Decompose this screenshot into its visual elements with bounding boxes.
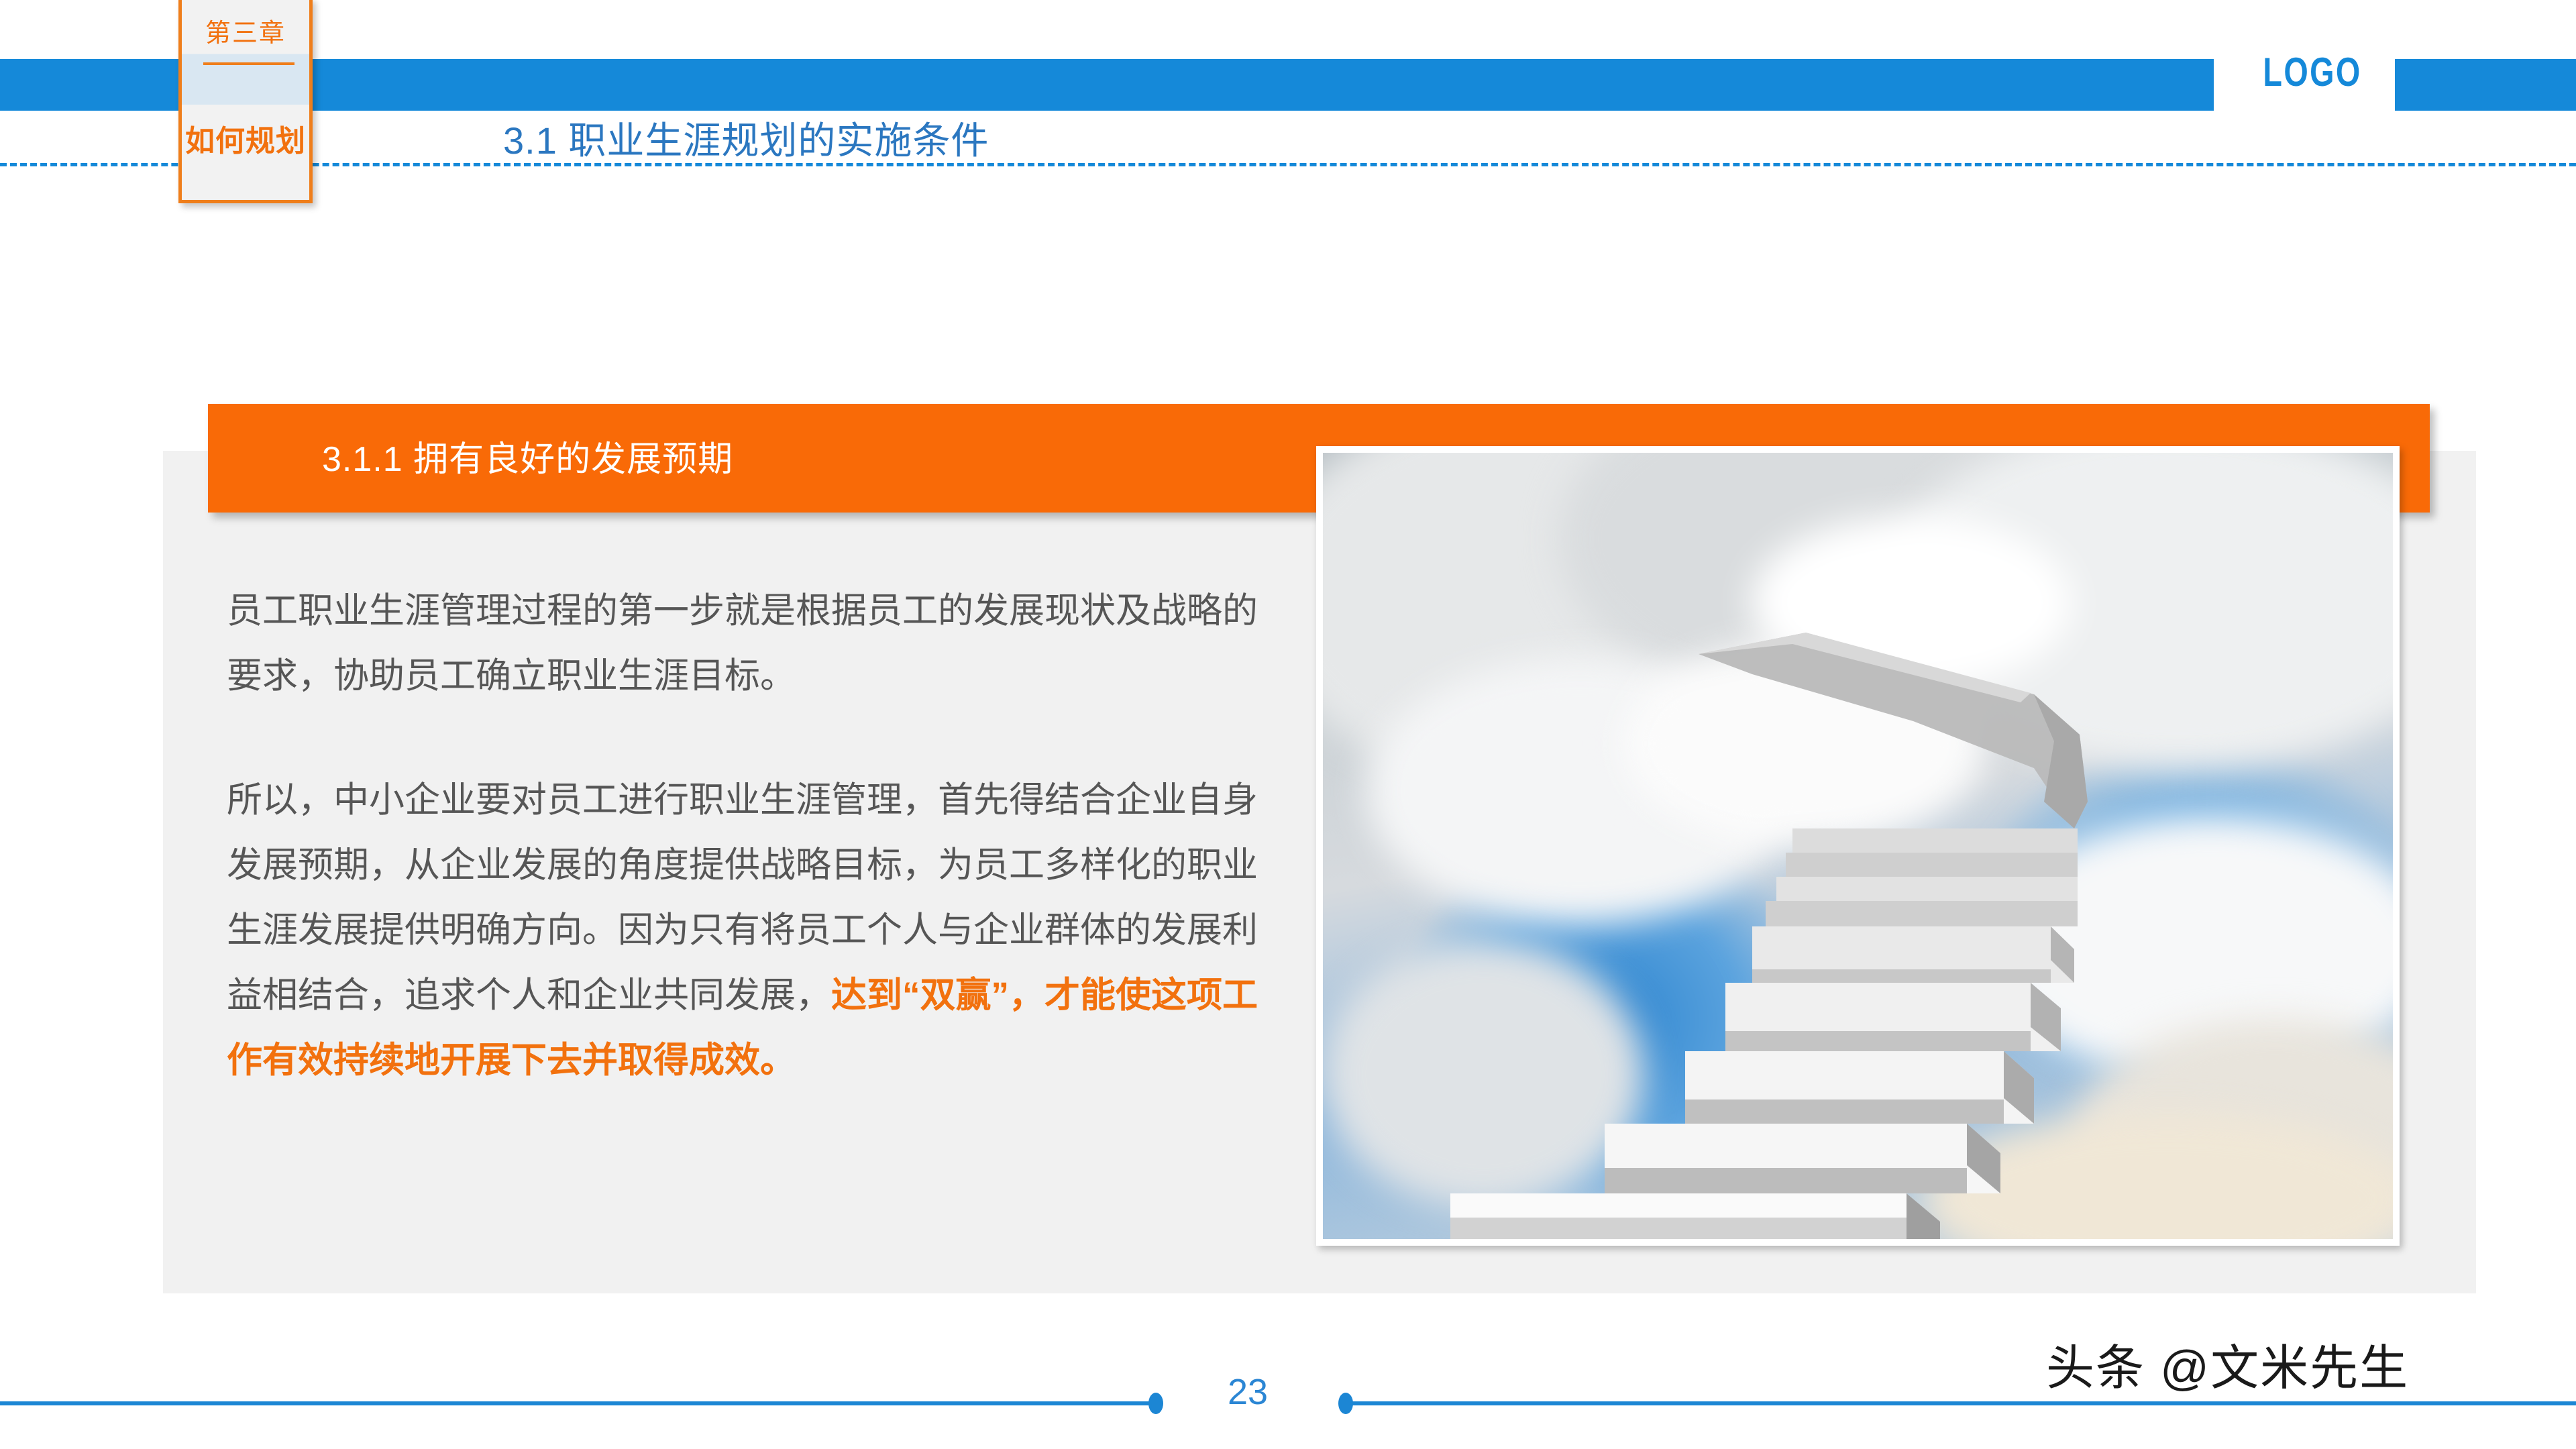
illustration-frame bbox=[1316, 446, 2400, 1246]
footer-dot-left bbox=[1148, 1393, 1163, 1414]
logo-text: LOGO bbox=[2247, 52, 2378, 93]
header-blue-bar-right bbox=[2395, 59, 2576, 111]
page-number: 23 bbox=[1181, 1371, 1315, 1413]
page-title: 3.1 职业生涯规划的实施条件 bbox=[503, 111, 989, 165]
header-blue-bar-left bbox=[0, 59, 2214, 111]
header-dashed-divider bbox=[0, 163, 2576, 166]
stairway-to-clouds-image bbox=[1323, 453, 2393, 1239]
footer-line-left bbox=[0, 1401, 1154, 1405]
chapter-name-label: 如何规划 bbox=[182, 117, 309, 160]
paragraph-1: 员工职业生涯管理过程的第一步就是根据员工的发展现状及战略的要求，协助员工确立职业… bbox=[227, 578, 1280, 708]
paragraph-1-run-1: 员工职业生涯管理过程的第一步就是根据员工的发展现状及战略的要求，协助员工确立职业… bbox=[227, 591, 1258, 696]
watermark-label: 头条 @文米先生 bbox=[2046, 1328, 2409, 1399]
chapter-number-label: 第三章 bbox=[182, 12, 309, 49]
paragraph-2: 所以，中小企业要对员工进行职业生涯管理，首先得结合企业自身发展预期，从企业发展的… bbox=[227, 767, 1280, 1093]
chapter-divider bbox=[203, 62, 294, 65]
body-text-block: 员工职业生涯管理过程的第一步就是根据员工的发展现状及战略的要求，协助员工确立职业… bbox=[227, 578, 1280, 1093]
paragraph-gap bbox=[227, 708, 1280, 767]
section-heading-label: 3.1.1 拥有良好的发展预期 bbox=[322, 431, 733, 481]
chapter-tab[interactable]: 第三章 如何规划 bbox=[178, 0, 313, 203]
footer-line-right bbox=[1345, 1401, 2576, 1405]
staircase-graphic bbox=[1323, 453, 2393, 1239]
